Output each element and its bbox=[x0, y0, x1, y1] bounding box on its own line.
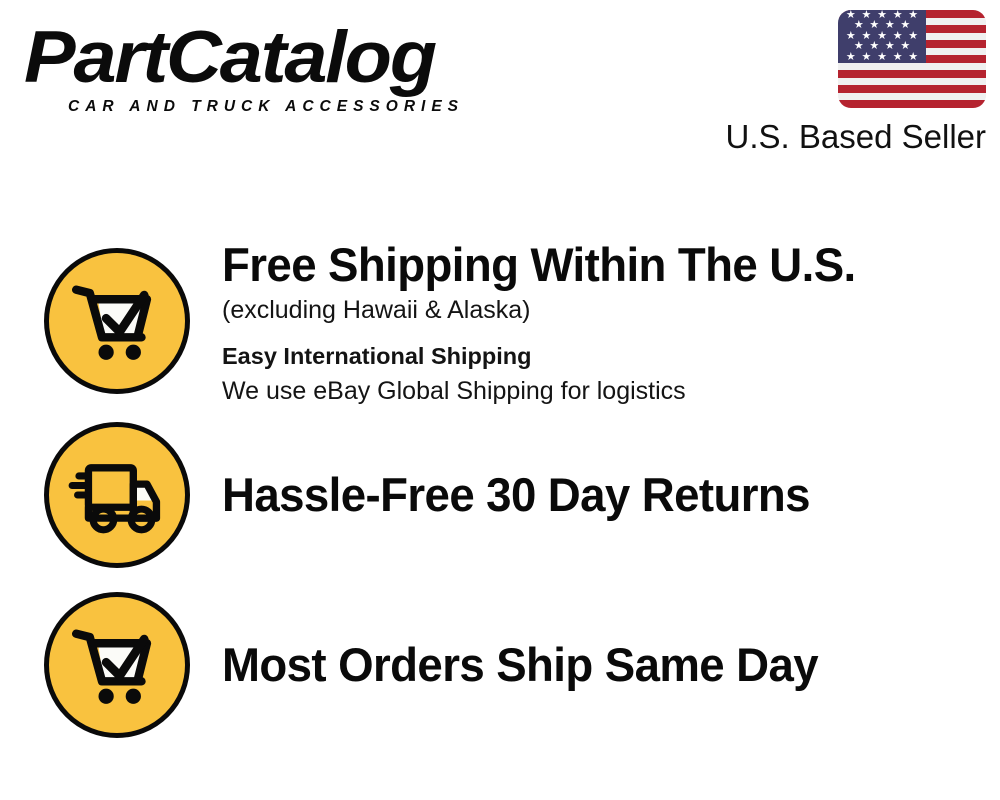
flag-star-row: ★ ★ ★ ★ ★ bbox=[838, 52, 926, 63]
feature-text-block: Free Shipping Within The U.S. (excluding… bbox=[222, 232, 875, 408]
brand-tagline: CAR AND TRUCK ACCESSORIES bbox=[68, 98, 494, 116]
feature-headline: Most Orders Ship Same Day bbox=[222, 638, 818, 692]
flag-star: ★ bbox=[908, 52, 918, 63]
delivery-truck-icon bbox=[44, 422, 190, 568]
flag-star-row: ★ ★ ★ ★ ★ bbox=[838, 31, 926, 42]
feature-text-block: Hassle-Free 30 Day Returns bbox=[222, 468, 828, 522]
feature-subtext: We use eBay Global Shipping for logistic… bbox=[222, 374, 875, 408]
flag-star: ★ bbox=[893, 52, 903, 63]
feature-subhead: Easy International Shipping bbox=[222, 339, 875, 373]
feature-note: (excluding Hawaii & Alaska) bbox=[222, 293, 875, 327]
flag-star: ★ bbox=[846, 52, 856, 63]
flag-stripe bbox=[838, 63, 986, 71]
flag-canton: ★ ★ ★ ★ ★ ★ ★ ★ ★ ★ ★ ★ ★ ★ bbox=[838, 10, 926, 63]
feature-headline: Hassle-Free 30 Day Returns bbox=[222, 468, 810, 522]
brand-logo: PartCatalog CAR AND TRUCK ACCESSORIES bbox=[24, 20, 494, 116]
us-based-seller-block: ★ ★ ★ ★ ★ ★ ★ ★ ★ ★ ★ ★ ★ ★ bbox=[716, 10, 986, 157]
feature-headline: Free Shipping Within The U.S. bbox=[222, 238, 856, 292]
flag-star: ★ bbox=[861, 52, 871, 63]
flag-stripe bbox=[838, 100, 986, 108]
feature-row: Hassle-Free 30 Day Returns bbox=[0, 410, 1000, 580]
flag-stripe bbox=[838, 85, 986, 93]
shopping-cart-check-icon bbox=[44, 248, 190, 394]
flag-stripe bbox=[838, 70, 986, 78]
shopping-cart-check-icon bbox=[44, 592, 190, 738]
flag-star: ★ bbox=[877, 52, 887, 63]
flag-stripe bbox=[838, 78, 986, 86]
feature-row: Most Orders Ship Same Day bbox=[0, 580, 1000, 750]
feature-list: Free Shipping Within The U.S. (excluding… bbox=[0, 232, 1000, 750]
feature-text-block: Most Orders Ship Same Day bbox=[222, 638, 836, 692]
brand-wordmark: PartCatalog bbox=[24, 20, 522, 96]
flag-star-row: ★ ★ ★ ★ ★ bbox=[838, 10, 926, 21]
us-flag-icon: ★ ★ ★ ★ ★ ★ ★ ★ ★ ★ ★ ★ ★ ★ bbox=[838, 10, 986, 108]
us-based-seller-label: U.S. Based Seller bbox=[716, 117, 986, 157]
banner-header: PartCatalog CAR AND TRUCK ACCESSORIES bbox=[0, 0, 1000, 170]
flag-stripe bbox=[838, 93, 986, 101]
feature-row: Free Shipping Within The U.S. (excluding… bbox=[0, 232, 1000, 410]
